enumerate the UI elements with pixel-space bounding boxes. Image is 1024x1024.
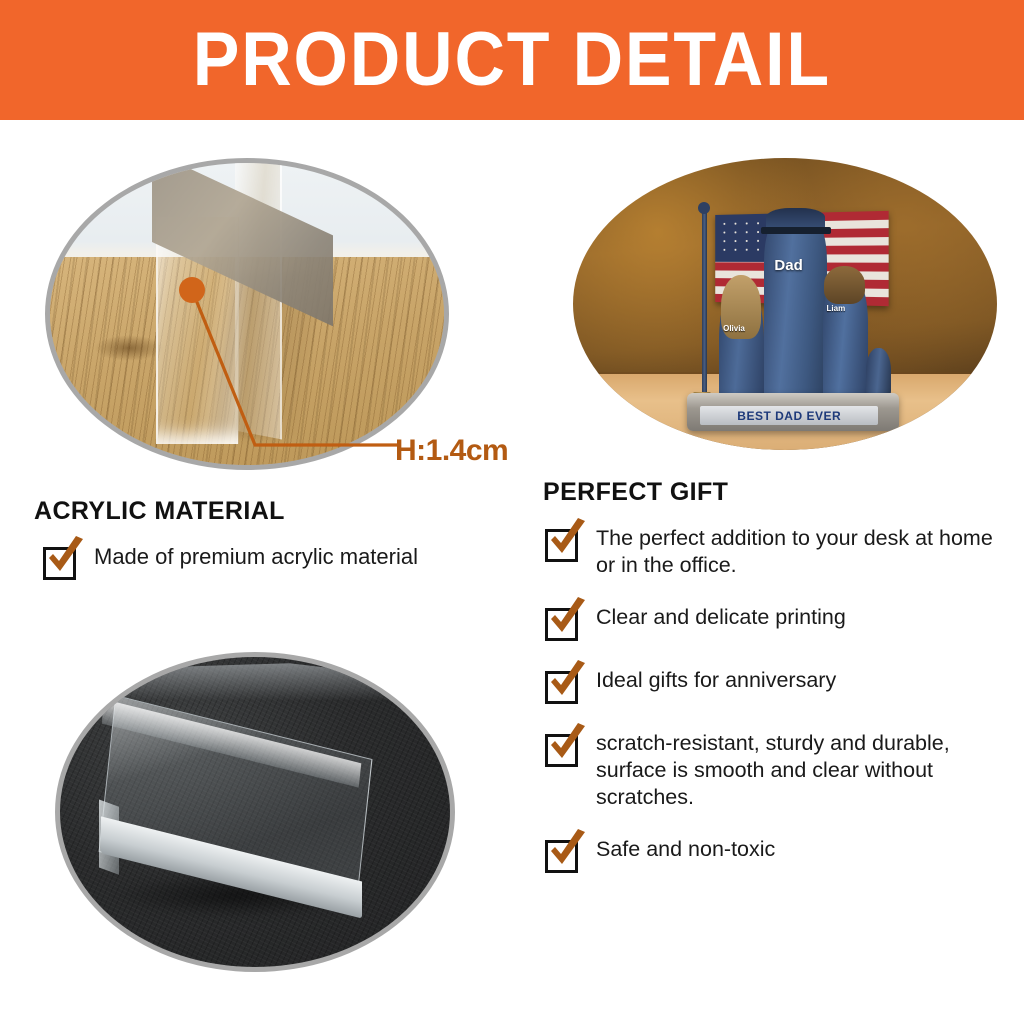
checkbox-checked-icon [43, 547, 76, 580]
checkmark-icon [545, 829, 589, 873]
figurine-base-plaque: BEST DAD EVER [700, 406, 878, 425]
height-callout-label: H:1.4cm [395, 434, 508, 468]
checkbox-checked-icon [545, 734, 578, 767]
bullet-label: Safe and non-toxic [596, 836, 775, 863]
page-header-banner: PRODUCT DETAIL [0, 0, 1024, 120]
checkbox-checked-icon [545, 529, 578, 562]
fire-hydrant-icon [866, 348, 891, 398]
checkmark-icon [545, 597, 589, 641]
checkbox-checked-icon [545, 608, 578, 641]
flag-pole-finial [698, 202, 710, 214]
bullet-list-acrylic-material: Made of premium acrylic material [43, 543, 513, 602]
photo-police-family-figurine: Olivia Dad Liam BEST DAD EVER [573, 158, 997, 450]
photo-acrylic-block-on-slate [55, 652, 455, 972]
bullet-item: The perfect addition to your desk at hom… [545, 525, 1005, 578]
figurine-dad-hat-brim [761, 227, 831, 234]
bullet-item: Made of premium acrylic material [43, 543, 513, 580]
heading-acrylic-material: ACRYLIC MATERIAL [34, 497, 285, 526]
bullet-label: Made of premium acrylic material [94, 543, 418, 570]
bullet-item: Safe and non-toxic [545, 836, 1005, 873]
bullet-label: The perfect addition to your desk at hom… [596, 525, 1005, 578]
checkbox-checked-icon [545, 671, 578, 704]
heading-perfect-gift: PERFECT GIFT [543, 478, 728, 507]
figurine-son-hair [824, 266, 864, 304]
bullet-item: Ideal gifts for anniversary [545, 667, 1005, 704]
figurine-daughter-name: Olivia [723, 324, 745, 333]
page-title: PRODUCT DETAIL [193, 22, 831, 98]
bullet-list-perfect-gift: The perfect addition to your desk at hom… [545, 525, 1005, 899]
checkmark-icon [545, 723, 589, 767]
checkbox-checked-icon [545, 840, 578, 873]
plaque-text: BEST DAD EVER [737, 409, 841, 423]
checkmark-icon [545, 660, 589, 704]
figurine-dad [764, 219, 828, 412]
bullet-label: scratch-resistant, sturdy and durable, s… [596, 730, 1005, 810]
bullet-item: scratch-resistant, sturdy and durable, s… [545, 730, 1005, 810]
bullet-item: Clear and delicate printing [545, 604, 1005, 641]
figurine-son-name: Liam [827, 304, 846, 313]
bullet-label: Clear and delicate printing [596, 604, 846, 631]
height-callout-leader [150, 270, 430, 470]
bullet-label: Ideal gifts for anniversary [596, 667, 836, 694]
checkmark-icon [545, 518, 589, 562]
checkmark-icon [43, 536, 87, 580]
figurine-dad-name: Dad [774, 257, 802, 274]
flag-pole [702, 208, 707, 401]
